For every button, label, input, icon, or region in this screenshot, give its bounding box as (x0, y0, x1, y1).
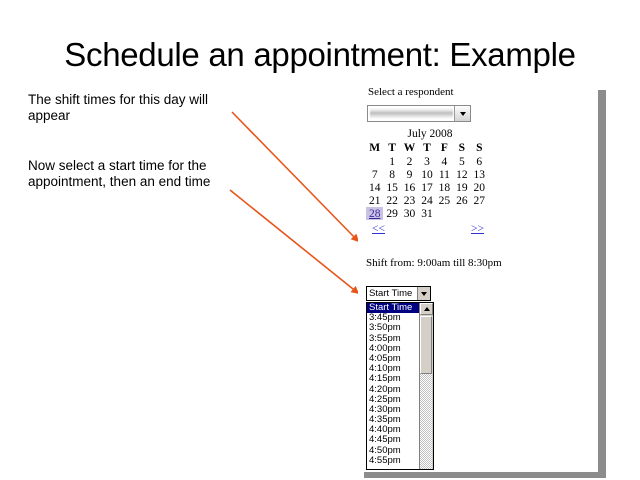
calendar-day[interactable]: 12 (453, 168, 470, 181)
triangle-up-icon[interactable] (420, 303, 433, 315)
calendar-weekday-1: T (383, 141, 400, 155)
page-title: Schedule an appointment: Example (0, 36, 640, 74)
calendar-day[interactable]: 16 (401, 181, 418, 194)
calendar-day-grid: 1234567891011121314151617181920212223242… (366, 155, 488, 220)
calendar-weekday-3: T (418, 141, 435, 155)
calendar-next-month-link[interactable]: >> (471, 223, 484, 235)
calendar-day-empty (366, 155, 383, 168)
calendar-prev-month-link[interactable]: << (372, 223, 385, 235)
listbox-scrollbar[interactable] (419, 303, 433, 469)
scrollbar-track[interactable] (420, 374, 432, 469)
arrow-to-start-time (230, 190, 358, 293)
chevron-down-icon[interactable] (454, 106, 470, 121)
calendar-day[interactable]: 6 (471, 155, 488, 168)
calendar-weekday-5: S (453, 141, 470, 155)
start-time-options-listbox[interactable]: Start Time3:45pm3:50pm3:55pm4:00pm4:05pm… (366, 302, 434, 470)
respondent-select[interactable] (367, 105, 471, 122)
calendar-day[interactable]: 4 (436, 155, 453, 168)
calendar-day[interactable]: 11 (436, 168, 453, 181)
respondent-label: Select a respondent (368, 86, 454, 98)
calendar-day[interactable]: 27 (471, 194, 488, 207)
screenshot-shadow-right (598, 90, 606, 478)
calendar-day[interactable]: 8 (383, 168, 400, 181)
calendar-day[interactable]: 20 (471, 181, 488, 194)
callout-text-select-start-time: Now select a start time for the appointm… (28, 158, 233, 190)
callout-text-shift-times: The shift times for this day will appear (28, 92, 238, 124)
calendar-week-row: 14151617181920 (366, 181, 488, 194)
calendar-day[interactable]: 30 (401, 207, 418, 220)
calendar-day[interactable]: 7 (366, 168, 383, 181)
calendar-day[interactable]: 10 (418, 168, 435, 181)
calendar-week-row: 123456 (366, 155, 488, 168)
chevron-down-icon[interactable] (417, 287, 430, 300)
calendar-week-row: 78910111213 (366, 168, 488, 181)
scrollbar-thumb[interactable] (420, 316, 432, 374)
calendar-day[interactable]: 25 (436, 194, 453, 207)
start-time-select[interactable]: Start Time (366, 286, 431, 301)
calendar-day[interactable]: 14 (366, 181, 383, 194)
calendar-day[interactable]: 1 (383, 155, 400, 168)
calendar-weekday-6: S (471, 141, 488, 155)
calendar-day[interactable]: 3 (418, 155, 435, 168)
calendar-day[interactable]: 13 (471, 168, 488, 181)
calendar-day-selected[interactable]: 28 (366, 207, 383, 220)
calendar-day-empty (453, 207, 470, 220)
calendar-day[interactable]: 22 (383, 194, 400, 207)
start-time-option-list: Start Time3:45pm3:50pm3:55pm4:00pm4:05pm… (367, 303, 419, 469)
calendar-day[interactable]: 23 (401, 194, 418, 207)
time-option[interactable]: 4:15pm (367, 374, 419, 384)
calendar-day[interactable]: 21 (366, 194, 383, 207)
embedded-browser-screenshot: Select a respondent July 2008 MTWTFSS 12… (358, 84, 598, 472)
calendar-day[interactable]: 24 (418, 194, 435, 207)
calendar-day[interactable]: 31 (418, 207, 435, 220)
arrow-to-calendar (232, 112, 358, 241)
calendar-day[interactable]: 5 (453, 155, 470, 168)
calendar-day[interactable]: 17 (418, 181, 435, 194)
calendar-day[interactable]: 9 (401, 168, 418, 181)
calendar-week-row: 21222324252627 (366, 194, 488, 207)
shift-hours-text: Shift from: 9:00am till 8:30pm (366, 257, 502, 269)
time-option[interactable]: 4:55pm (367, 456, 419, 466)
calendar-month-label: July 2008 (366, 128, 488, 141)
calendar-weekday-2: W (401, 141, 418, 155)
calendar-weekday-4: F (436, 141, 453, 155)
calendar-day[interactable]: 2 (401, 155, 418, 168)
calendar-day-empty (471, 207, 488, 220)
calendar-day[interactable]: 26 (453, 194, 470, 207)
calendar-navigation: << >> (366, 223, 488, 239)
calendar-weekday-0: M (366, 141, 383, 155)
calendar-weekday-header-row: MTWTFSS (366, 141, 488, 155)
calendar-day[interactable]: 19 (453, 181, 470, 194)
calendar-day[interactable]: 15 (383, 181, 400, 194)
calendar-day[interactable]: 18 (436, 181, 453, 194)
respondent-selected-value (370, 108, 453, 119)
calendar-day-empty (436, 207, 453, 220)
calendar-week-row: 28293031 (366, 207, 488, 220)
calendar-table: MTWTFSS 12345678910111213141516171819202… (366, 141, 488, 220)
calendar-widget[interactable]: July 2008 MTWTFSS 1234567891011121314151… (366, 128, 488, 239)
calendar-day[interactable]: 29 (383, 207, 400, 220)
start-time-selected-value: Start Time (367, 288, 417, 299)
